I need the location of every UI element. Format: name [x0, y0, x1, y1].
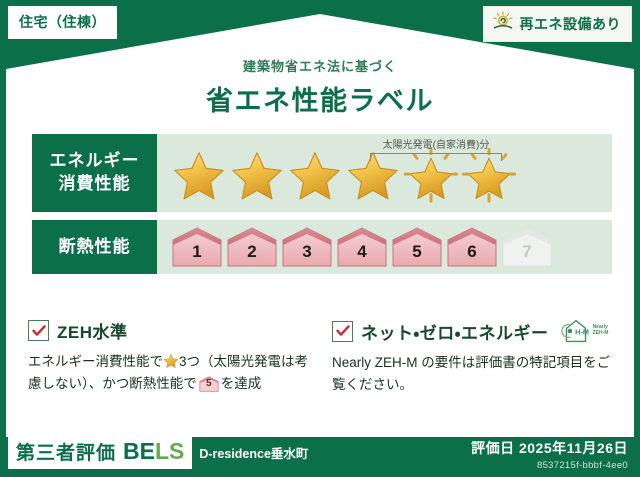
star-solar-icon: [403, 148, 459, 204]
insulation-level-inline-icon: 5: [199, 376, 219, 392]
zeh-body-part4: を達成: [221, 376, 262, 391]
insulation-step-inactive: 7: [501, 226, 553, 268]
zeh-criteria: ZEH水準 エネルギー消費性能で3つ（太陽光発電は考慮しない）、かつ断熱性能で5…: [28, 318, 314, 397]
evaluation-date: 評価日 2025年11月26日: [471, 438, 628, 458]
zeh-m-logo-caption: Nearly ZEH-M: [593, 325, 609, 337]
star-icon: [163, 353, 179, 369]
renewable-badge-label: 再エネ設備あり: [520, 14, 622, 34]
net-zero-criteria-header: ネット・ゼロ・エネルギー H-M Nearly ZEH-M: [332, 318, 618, 344]
svg-text:H-M: H-M: [575, 327, 589, 336]
building-type-tag: 住宅（住棟）: [8, 6, 117, 39]
star-icon: [229, 148, 285, 204]
insulation-step-number: 4: [357, 242, 366, 268]
insulation-performance-row: 断熱性能 1: [32, 220, 612, 274]
bels-logo: BELS: [123, 438, 184, 465]
zeh-checkbox[interactable]: [28, 320, 49, 341]
evaluation-info: 評価日 2025年11月26日 8537215f-bbbf-4ee0: [471, 438, 628, 471]
net-zero-criteria-title: ネット・ゼロ・エネルギー: [361, 319, 549, 344]
zeh-criteria-header: ZEH水準: [28, 318, 314, 343]
insulation-label-text: 断熱性能: [59, 236, 131, 259]
renewable-energy-badge: 再エネ設備あり: [483, 6, 633, 42]
bels-logo-part1: BE: [123, 438, 155, 464]
check-icon: [336, 325, 350, 337]
energy-performance-row: エネルギー 消費性能: [32, 134, 612, 212]
footer: 第三者評価 BELS D-residence垂水町 評価日 2025年11月26…: [0, 433, 640, 477]
star-icon: [287, 148, 343, 204]
zeh-body-part2: 3つ（太陽光発電: [179, 354, 281, 369]
insulation-level-inline-value: 5: [199, 376, 219, 393]
insulation-level-scale: 1 2 3: [157, 220, 612, 274]
insulation-step: 4: [336, 226, 388, 268]
insulation-step: 5: [391, 226, 443, 268]
evaluation-id: 8537215f-bbbf-4ee0: [471, 460, 628, 471]
ratings-section: エネルギー 消費性能: [32, 134, 612, 274]
zeh-m-logo: H-M Nearly ZEH-M: [561, 318, 609, 344]
title-subtitle: 建築物省エネ法に基づく: [0, 56, 640, 75]
zeh-m-caption-line2: ZEH-M: [593, 330, 609, 336]
project-name: D-residence垂水町: [199, 443, 308, 462]
insulation-performance-label: 断熱性能: [32, 220, 157, 274]
energy-label-line1: エネルギー: [50, 150, 140, 173]
energy-label-line2: 消費性能: [59, 173, 131, 196]
check-icon: [32, 325, 46, 337]
bels-logo-part2: LS: [155, 438, 184, 464]
title-block: 建築物省エネ法に基づく 省エネ性能ラベル: [0, 56, 640, 118]
star-icon: [345, 148, 401, 204]
criteria-section: ZEH水準 エネルギー消費性能で3つ（太陽光発電は考慮しない）、かつ断熱性能で5…: [28, 318, 618, 397]
insulation-step-number: 7: [522, 242, 531, 268]
zeh-body-part1: エネルギー消費性能で: [28, 354, 163, 369]
star-icon: [171, 148, 227, 204]
star-list: [157, 148, 517, 204]
insulation-step-number: 3: [302, 242, 311, 268]
zeh-criteria-title: ZEH水準: [57, 318, 128, 343]
insulation-step: 1: [171, 226, 223, 268]
page-title: 省エネ性能ラベル: [0, 79, 640, 118]
insulation-step-number: 1: [192, 242, 201, 268]
sun-renewable-icon: [492, 11, 514, 36]
zeh-m-house-icon: H-M: [561, 318, 591, 344]
net-zero-criteria-body: Nearly ZEH-M の要件は評価書の特記項目をご覧ください。: [332, 352, 618, 397]
energy-performance-label: エネルギー 消費性能: [32, 134, 157, 212]
bels-block: 第三者評価 BELS D-residence垂水町: [8, 435, 308, 469]
net-zero-criteria: ネット・ゼロ・エネルギー H-M Nearly ZEH-M Nearly ZEH…: [332, 318, 618, 397]
star-solar-icon: [461, 148, 517, 204]
insulation-step-number: 5: [412, 242, 421, 268]
insulation-step: 6: [446, 226, 498, 268]
building-type-label: 住宅（住棟）: [19, 14, 106, 30]
bels-badge: 第三者評価 BELS: [8, 435, 192, 469]
insulation-step-number: 2: [247, 242, 256, 268]
zeh-criteria-body: エネルギー消費性能で3つ（太陽光発電は考慮しない）、かつ断熱性能で5を達成: [28, 351, 314, 396]
bels-japanese-label: 第三者評価: [16, 438, 116, 465]
insulation-step-number: 6: [467, 242, 476, 268]
net-zero-checkbox[interactable]: [332, 321, 353, 342]
house-step-list: 1 2 3: [157, 226, 553, 268]
insulation-step: 3: [281, 226, 333, 268]
insulation-step: 2: [226, 226, 278, 268]
energy-performance-label-card: 住宅（住棟） 再エネ設備あり 建築物省エネ法に基づく 省エネ性能ラベル: [0, 0, 640, 477]
energy-star-rating: 太陽光発電(自家消費)分: [157, 134, 612, 212]
